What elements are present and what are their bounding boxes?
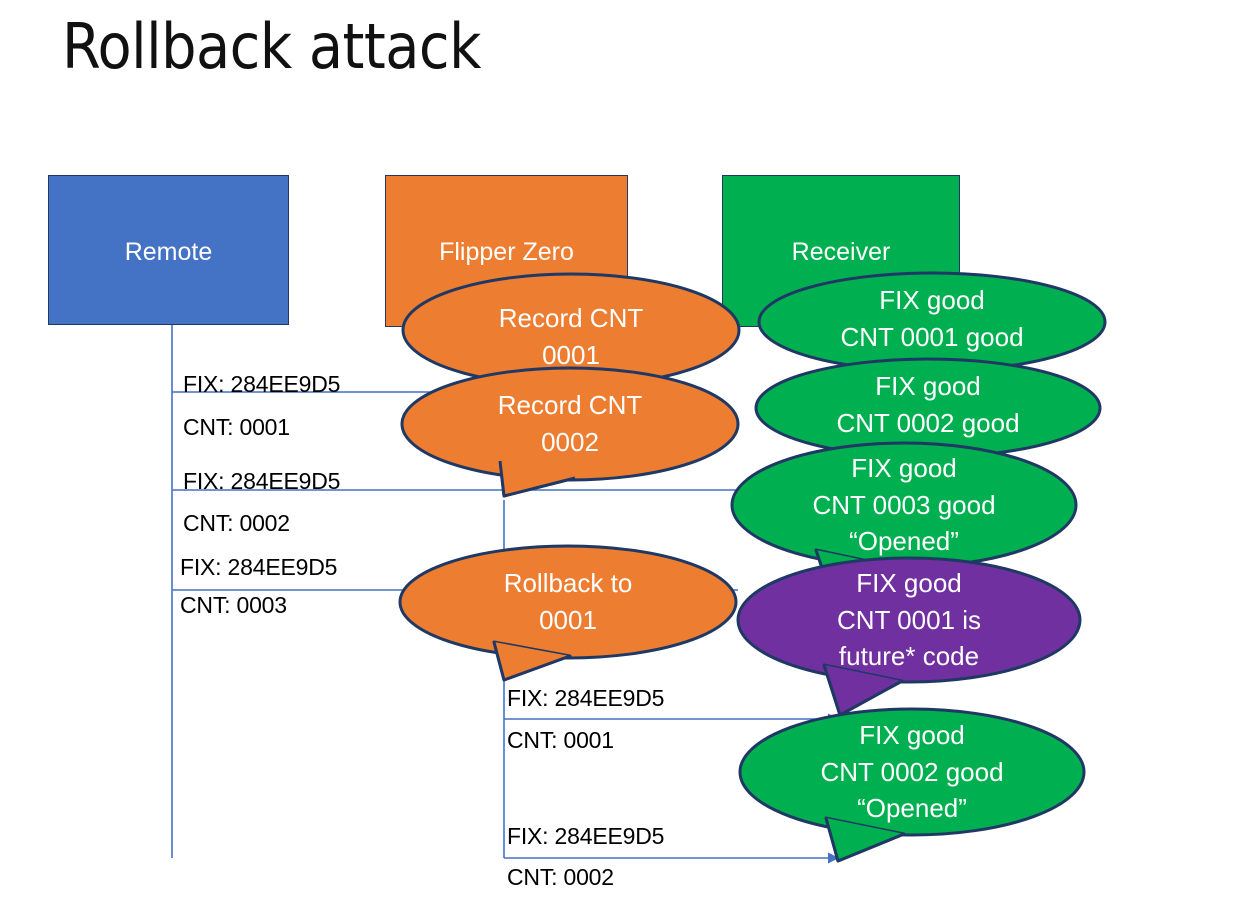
page-title: Rollback attack (62, 10, 481, 83)
bubble-line-1: FIX good (875, 368, 981, 405)
bubble-line-1: Record CNT (499, 300, 643, 337)
bubble-line-2: CNT 0001 is (837, 602, 981, 639)
message-label-m3-fix: FIX: 284EE9D5 (180, 554, 337, 581)
bubble-line-1: FIX good (856, 565, 962, 602)
bubble-line-2: 0002 (541, 424, 599, 461)
bubble-recv-final[interactable]: FIX good CNT 0002 good “Opened” (738, 706, 1086, 876)
bubble-line-3: “Opened” (857, 790, 967, 827)
bubble-recv-future[interactable]: FIX good CNT 0001 is future* code (736, 557, 1082, 722)
bubble-line-3: future* code (839, 638, 979, 675)
actor-box-remote[interactable]: Remote (48, 175, 289, 325)
bubble-line-2: CNT 0001 good (840, 319, 1023, 356)
bubble-line-2: CNT 0002 good (820, 754, 1003, 791)
message-label-m4-fix: FIX: 284EE9D5 (507, 685, 664, 712)
bubble-rollback-0001[interactable]: Rollback to 0001 (398, 544, 738, 689)
bubble-line-1: FIX good (851, 450, 957, 487)
message-label-m2-cnt: CNT: 0002 (183, 510, 290, 537)
bubble-record-0001[interactable]: Record CNT 0001 (402, 272, 740, 372)
message-label-m5-cnt: CNT: 0002 (507, 864, 614, 891)
message-label-m1-fix: FIX: 284EE9D5 (183, 371, 340, 398)
bubble-line-1: FIX good (859, 717, 965, 754)
bubble-line-3: “Opened” (849, 523, 959, 560)
slide-canvas: Rollback attack Remote Flipper Zero Rece… (0, 0, 1233, 898)
bubble-line-2: CNT 0003 good (812, 487, 995, 524)
bubble-line-2: 0001 (539, 602, 597, 639)
bubble-record-0002[interactable]: Record CNT 0002 (400, 366, 740, 506)
message-label-m2-fix: FIX: 284EE9D5 (183, 468, 340, 495)
bubble-recv-0001[interactable]: FIX good CNT 0001 good (757, 270, 1107, 367)
bubble-recv-0002[interactable]: FIX good CNT 0002 good (754, 356, 1102, 453)
message-label-m5-fix: FIX: 284EE9D5 (507, 823, 664, 850)
message-label-m1-cnt: CNT: 0001 (183, 414, 290, 441)
message-label-m4-cnt: CNT: 0001 (507, 727, 614, 754)
message-label-m3-cnt: CNT: 0003 (180, 592, 287, 619)
bubble-line-1: FIX good (879, 282, 985, 319)
bubble-line-2: CNT 0002 good (836, 405, 1019, 442)
bubble-line-1: Rollback to (504, 565, 633, 602)
bubble-line-1: Record CNT (498, 387, 642, 424)
actor-label-remote: Remote (125, 238, 213, 324)
